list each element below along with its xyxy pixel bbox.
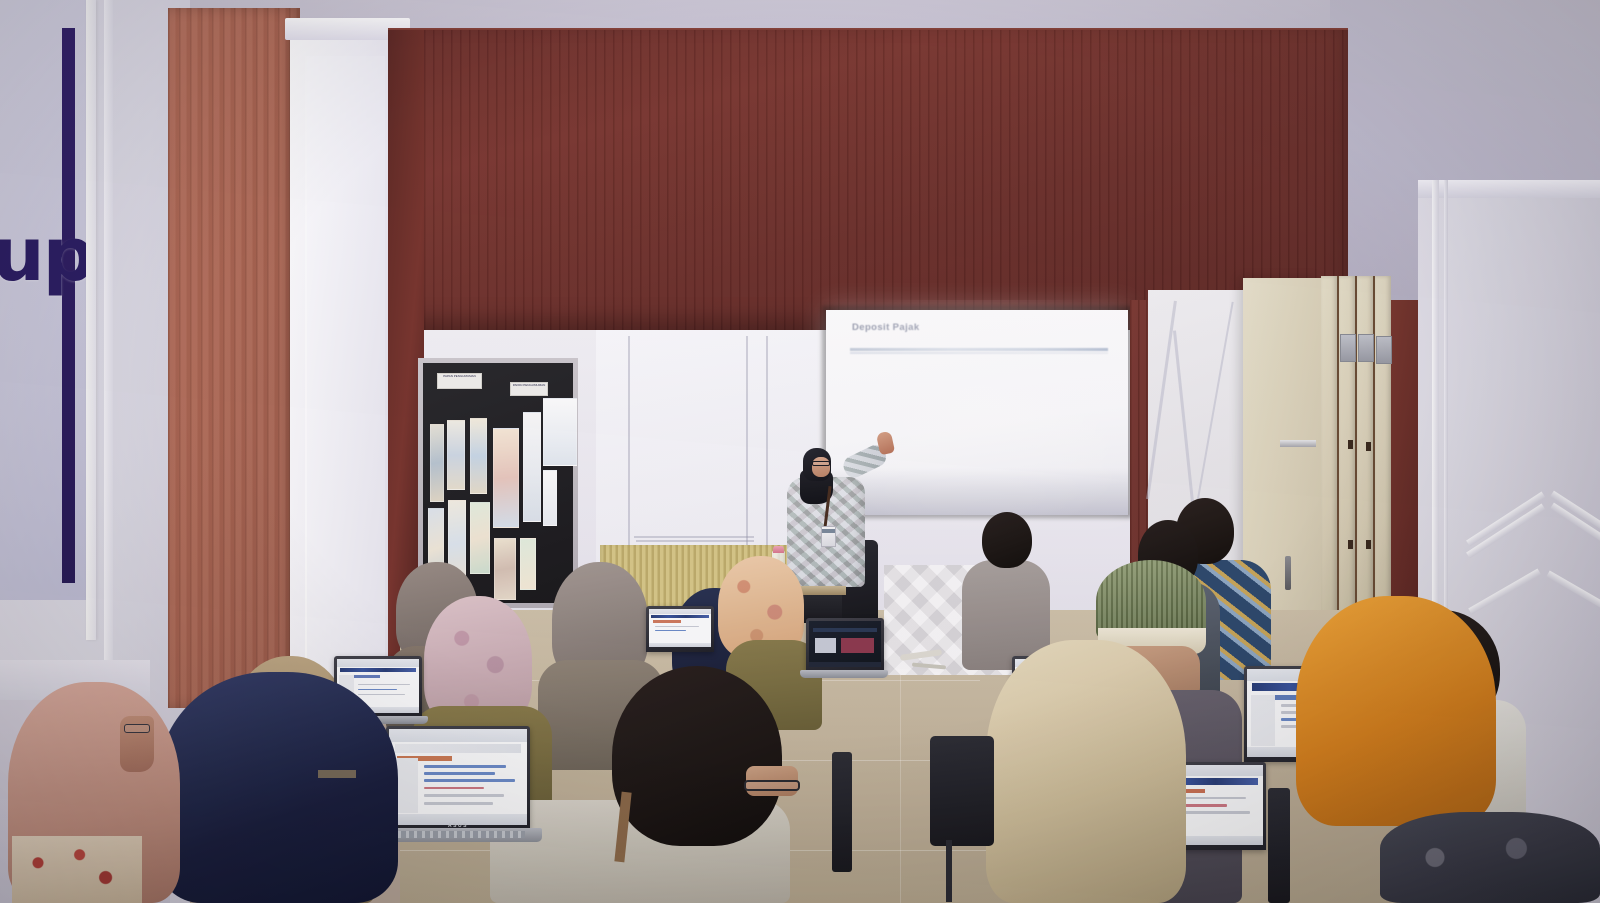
laptop[interactable] — [806, 618, 884, 672]
hijab — [1380, 812, 1600, 903]
board-label-2: PAPAN PENGUMUMAN — [510, 382, 548, 396]
chair-leg — [946, 840, 952, 902]
head — [982, 512, 1032, 568]
board-poster — [470, 502, 490, 574]
banner-frame-left — [86, 0, 96, 640]
desk-edge — [318, 770, 356, 778]
fold-marker — [1348, 440, 1353, 449]
door-lock-icon[interactable] — [1285, 556, 1291, 590]
hinge-icon — [1358, 334, 1374, 362]
head — [612, 666, 782, 846]
chair-frame — [1268, 788, 1290, 903]
laptop-base — [800, 670, 888, 678]
wall-groove — [634, 536, 754, 538]
rollup-banner — [0, 0, 92, 600]
hijab — [986, 640, 1186, 903]
laptop-screen[interactable] — [809, 621, 881, 667]
fold-marker — [1348, 540, 1353, 549]
chair-frame — [832, 752, 852, 872]
laptop[interactable] — [646, 606, 714, 652]
banner-text-line: up — [0, 212, 94, 298]
slide-title: Deposit Pajak — [852, 322, 1052, 333]
white-pillar-inset — [305, 56, 385, 696]
banner-accent-stripe — [62, 28, 75, 583]
wood-header-panel — [388, 30, 1348, 330]
board-poster — [543, 470, 557, 526]
training-room-photo: up PAPAN PENGUMUMAN PAPAN PENGUMUMAN Dep… — [0, 0, 1600, 903]
hijab — [158, 672, 398, 903]
bottle-cap — [773, 546, 784, 553]
patterned-garment — [12, 836, 142, 903]
hinge-icon — [1340, 334, 1356, 362]
banner-frame-right — [104, 0, 113, 660]
id-badge-stripe — [822, 529, 835, 533]
laptop-screen[interactable] — [649, 609, 711, 647]
glasses-icon — [812, 461, 830, 466]
board-poster — [494, 538, 516, 600]
board-poster — [430, 424, 444, 502]
board-poster — [493, 428, 519, 528]
banner-text: up — [0, 222, 64, 289]
hinge-icon — [1376, 336, 1392, 364]
glasses-icon — [744, 780, 800, 791]
board-label-1: PAPAN PENGUMUMAN — [437, 373, 482, 389]
chair-back — [930, 736, 994, 846]
terracotta-ridged-panel — [168, 8, 300, 708]
board-poster — [523, 412, 541, 522]
laptop-asus[interactable]: ASUS — [386, 726, 530, 830]
board-poster — [543, 398, 577, 466]
glasses-icon — [124, 724, 150, 733]
slide-toolbar-row — [850, 348, 1108, 351]
laptop-base — [376, 828, 542, 842]
wall-groove — [636, 540, 754, 542]
fold-marker — [1366, 442, 1371, 451]
hijab — [1296, 596, 1496, 826]
laptop-screen[interactable] — [389, 729, 527, 825]
slide-toolbar-row-2 — [850, 352, 1108, 354]
fold-marker — [1366, 540, 1371, 549]
screen-shading — [826, 468, 1128, 515]
board-poster — [520, 538, 536, 590]
board-poster — [447, 420, 465, 490]
door-handle-plate[interactable] — [1280, 440, 1316, 447]
presenter-face — [812, 457, 830, 477]
board-poster — [470, 418, 487, 494]
